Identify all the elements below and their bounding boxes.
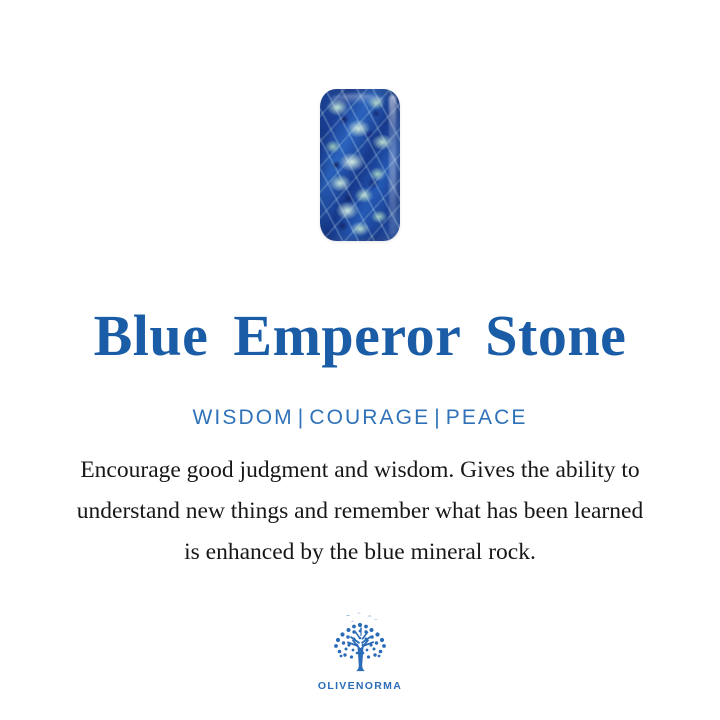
- brand-name: OLIVENORMA: [318, 680, 402, 692]
- keyword-wisdom: WISDOM: [193, 406, 294, 429]
- description-line-1: Encourage good judgment and wisdom. Give…: [22, 450, 698, 491]
- stone-gloss-top-highlight: [330, 94, 384, 104]
- blue-emperor-stone-image: [320, 89, 400, 241]
- product-description: Encourage good judgment and wisdom. Give…: [22, 450, 698, 573]
- product-image-container: [0, 88, 720, 242]
- product-info-card: Blue Emperor Stone WISDOM|COURAGE|PEACE …: [0, 0, 720, 720]
- product-title: Blue Emperor Stone: [0, 303, 720, 369]
- description-line-3: is enhanced by the blue mineral rock.: [22, 532, 698, 573]
- olive-tree-icon: [324, 612, 396, 678]
- keyword-list: WISDOM|COURAGE|PEACE: [0, 404, 720, 432]
- brand-block: OLIVENORMA: [0, 612, 720, 692]
- stone-vein-texture: [320, 89, 400, 241]
- keyword-separator-2: |: [430, 406, 446, 429]
- stone-gloss-highlight: [389, 95, 396, 235]
- description-line-2: understand new things and remember what …: [22, 491, 698, 532]
- keyword-courage: COURAGE: [309, 406, 430, 429]
- keyword-separator-1: |: [294, 406, 310, 429]
- keyword-peace: PEACE: [446, 406, 528, 429]
